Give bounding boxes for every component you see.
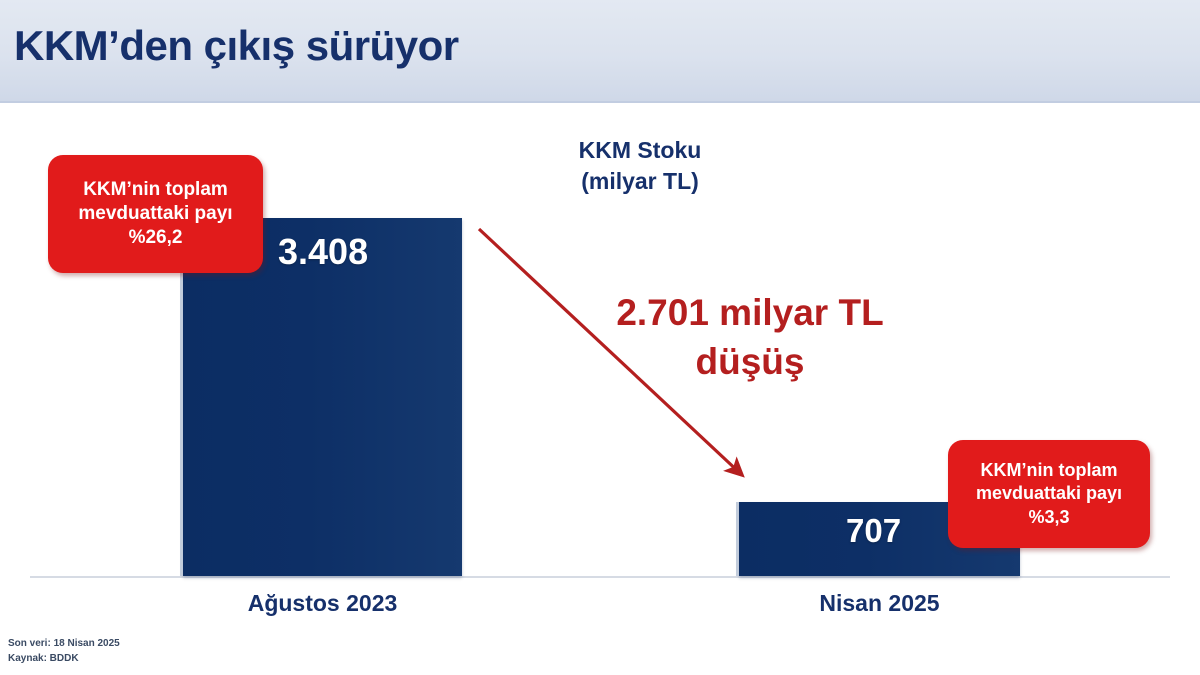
callout-share-2023: KKM’nin toplam mevduattaki payı %26,2 [48, 155, 263, 273]
footer-last-data: Son veri: 18 Nisan 2025 [8, 636, 120, 651]
decline-annotation: 2.701 milyar TL düşüş [585, 289, 915, 387]
footer-source: Kaynak: BDDK [8, 651, 120, 666]
bar-left-edge [736, 502, 739, 576]
slide-root: KKM’den çıkış sürüyor KKM Stoku (milyar … [0, 0, 1200, 675]
callout-value: %26,2 [56, 226, 255, 250]
chart-plot-area: KKM Stoku (milyar TL) 3.408 707 Ağustos … [0, 103, 1200, 675]
decline-word: düşüş [585, 338, 915, 387]
chart-subtitle: (milyar TL) [520, 166, 760, 197]
footer-notes: Son veri: 18 Nisan 2025 Kaynak: BDDK [8, 636, 120, 666]
bar-value-label-2023: 3.408 [278, 231, 368, 273]
category-label-2023: Ağustos 2023 [183, 590, 462, 617]
x-axis-line [30, 576, 1170, 578]
callout-share-2025: KKM’nin toplam mevduattaki payı %3,3 [948, 440, 1150, 548]
chart-title: KKM Stoku [520, 135, 760, 166]
chart-title-block: KKM Stoku (milyar TL) [520, 135, 760, 197]
callout-line-2: mevduattaki payı [956, 482, 1142, 505]
callout-line-2: mevduattaki payı [56, 202, 255, 226]
header-band: KKM’den çıkış sürüyor [0, 0, 1200, 103]
callout-value: %3,3 [956, 506, 1142, 529]
category-label-2025: Nisan 2025 [739, 590, 1020, 617]
decline-amount: 2.701 milyar TL [585, 289, 915, 338]
bar-value-label-2025: 707 [846, 512, 901, 550]
callout-line-1: KKM’nin toplam [56, 178, 255, 202]
callout-line-1: KKM’nin toplam [956, 459, 1142, 482]
page-title: KKM’den çıkış sürüyor [14, 22, 459, 70]
